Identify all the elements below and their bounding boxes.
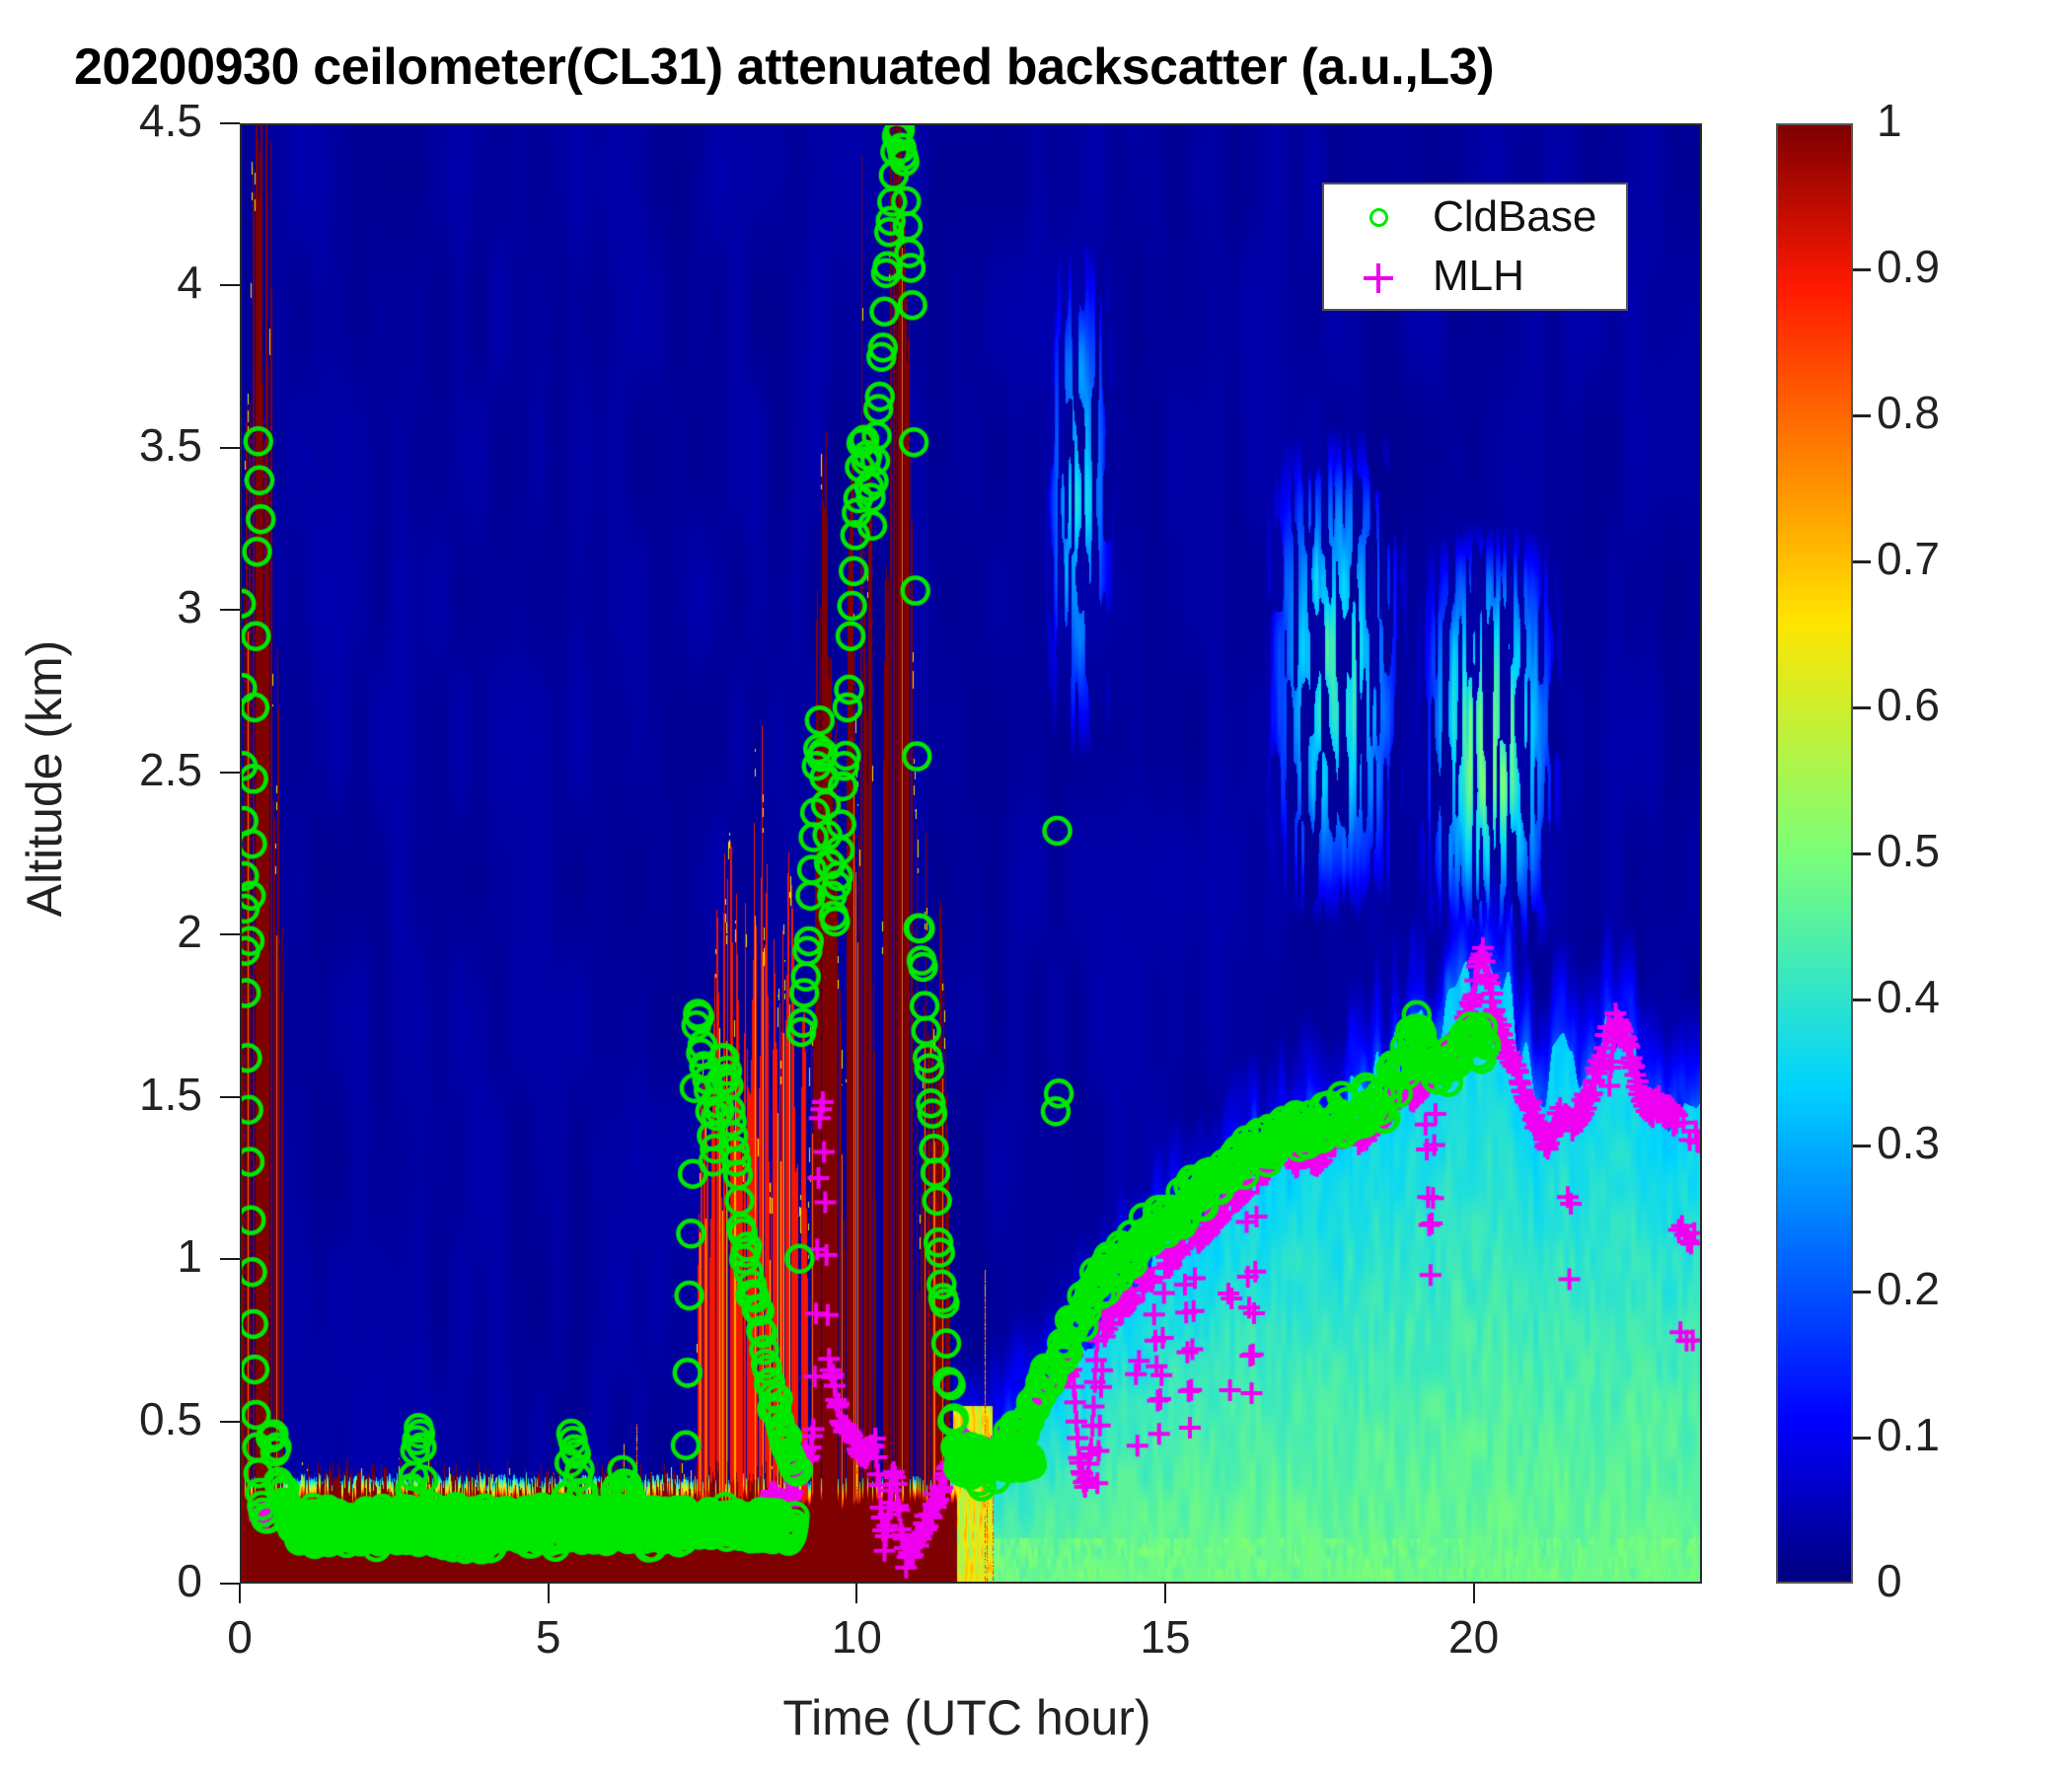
x-axis-label: Time (UTC hour) — [0, 1689, 1934, 1746]
colorbar-tick — [1853, 268, 1871, 271]
x-tick — [1164, 1584, 1166, 1603]
figure-root: 20200930 ceilometer(CL31) attenuated bac… — [0, 0, 2072, 1776]
colorbar-tick — [1853, 706, 1871, 709]
y-tick — [220, 1583, 240, 1585]
y-tick-label: 4 — [5, 256, 202, 309]
y-tick-label: 1 — [5, 1229, 202, 1283]
legend-label-cldbase: CldBase — [1433, 192, 1596, 242]
colorbar-tick — [1853, 1437, 1871, 1440]
colorbar-gradient — [1778, 125, 1851, 1582]
scatter-overlay-canvas — [240, 123, 1702, 1584]
colorbar-tick-label: 0.9 — [1877, 240, 1940, 293]
colorbar-tick-label: 0.8 — [1877, 386, 1940, 439]
colorbar-tick-label: 0.7 — [1877, 532, 1940, 585]
x-tick — [548, 1584, 550, 1603]
plot-area[interactable] — [240, 123, 1702, 1584]
y-tick — [220, 447, 240, 449]
plus-marker-icon — [1342, 250, 1427, 305]
x-tick-label: 0 — [141, 1610, 338, 1664]
colorbar-tick — [1853, 414, 1871, 417]
y-tick — [220, 933, 240, 935]
colorbar-tick — [1853, 560, 1871, 563]
legend-label-mlh: MLH — [1433, 252, 1524, 301]
x-tick-label: 5 — [450, 1610, 647, 1664]
x-tick-label: 15 — [1067, 1610, 1264, 1664]
x-tick-label: 20 — [1375, 1610, 1573, 1664]
y-tick — [220, 772, 240, 774]
colorbar[interactable] — [1776, 123, 1853, 1584]
legend[interactable]: CldBase MLH — [1322, 183, 1628, 311]
y-tick-label: 0 — [5, 1554, 202, 1607]
y-tick — [220, 1421, 240, 1423]
y-tick — [220, 609, 240, 611]
page-title: 20200930 ceilometer(CL31) attenuated bac… — [74, 37, 1494, 97]
y-tick — [220, 1258, 240, 1260]
y-axis-label: Altitude (km) — [16, 384, 73, 1173]
colorbar-tick-label: 0.2 — [1877, 1262, 1940, 1315]
colorbar-tick — [1853, 1145, 1871, 1147]
x-tick — [855, 1584, 857, 1603]
colorbar-tick — [1853, 999, 1871, 1001]
legend-entry-cldbase[interactable]: CldBase — [1324, 190, 1626, 246]
colorbar-tick — [1853, 852, 1871, 855]
x-tick — [1473, 1584, 1475, 1603]
y-tick — [220, 1096, 240, 1098]
colorbar-tick-label: 1 — [1877, 94, 1902, 147]
colorbar-tick-label: 0.6 — [1877, 678, 1940, 731]
colorbar-tick-label: 0.3 — [1877, 1116, 1940, 1169]
circle-marker-icon — [1342, 190, 1427, 246]
colorbar-tick-label: 0 — [1877, 1554, 1902, 1607]
colorbar-tick — [1853, 1291, 1871, 1294]
y-tick — [220, 122, 240, 124]
y-tick-label: 4.5 — [5, 94, 202, 147]
colorbar-tick-label: 0.1 — [1877, 1408, 1940, 1461]
colorbar-tick-label: 0.4 — [1877, 970, 1940, 1023]
x-tick — [239, 1584, 241, 1603]
legend-entry-mlh[interactable]: MLH — [1324, 250, 1626, 305]
x-tick-label: 10 — [758, 1610, 955, 1664]
y-tick — [220, 284, 240, 286]
colorbar-tick-label: 0.5 — [1877, 824, 1940, 877]
y-tick-label: 0.5 — [5, 1392, 202, 1445]
